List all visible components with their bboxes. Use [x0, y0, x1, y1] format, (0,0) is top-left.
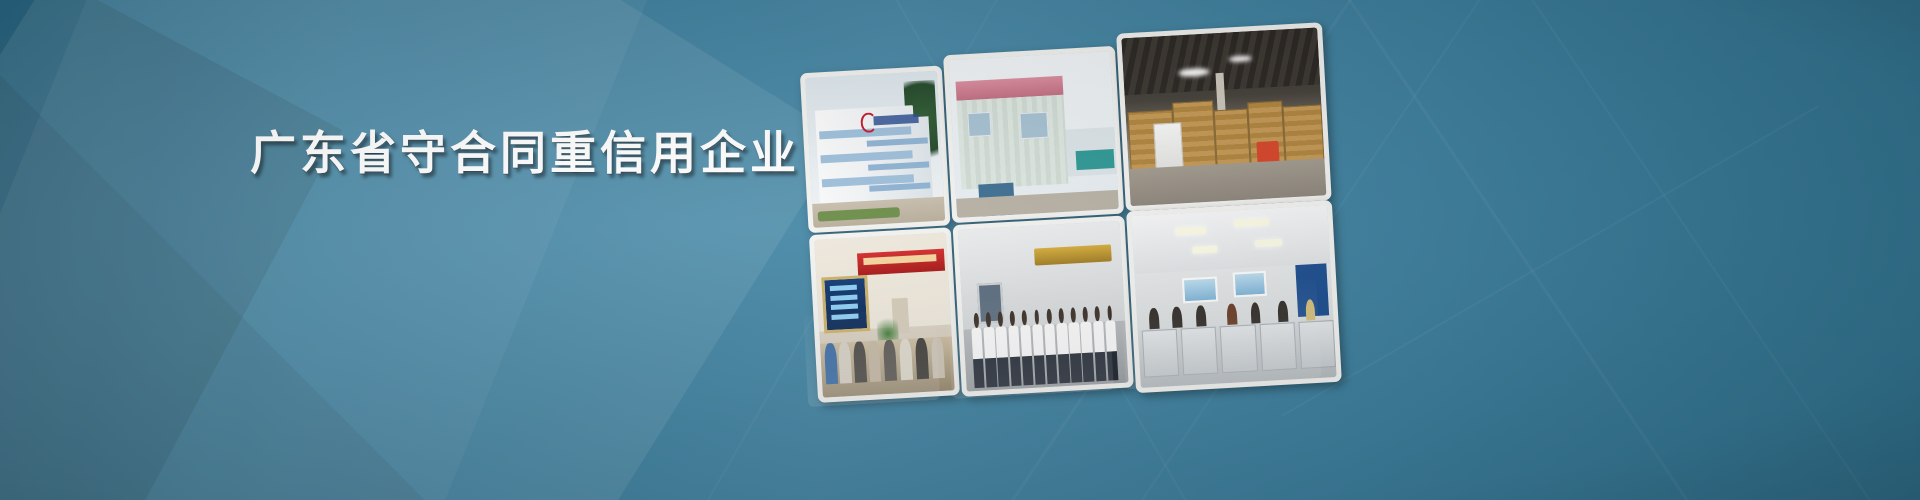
background-facet-light-wedge — [0, 0, 844, 500]
photo-staff-group-photo-lobby — [958, 221, 1129, 392]
collage-tile-staff-group-photo-lobby[interactable] — [953, 216, 1134, 397]
photo-meeting-room-conference — [814, 233, 955, 398]
background-facet-dark-lower — [0, 5, 425, 500]
collage-tile-warehouse-stacked-bags[interactable] — [1116, 22, 1332, 211]
background-streak-4 — [1393, 0, 1920, 500]
collage-tile-open-plan-office[interactable] — [1126, 200, 1342, 393]
background-facet-dark-left — [0, 0, 342, 500]
photo-warehouse-stacked-bags — [1121, 27, 1326, 206]
background-facet-light-narrow — [0, 0, 700, 500]
photo-open-plan-office — [1131, 205, 1336, 388]
company-honor-banner: 广东省守合同重信用企业 — [0, 0, 1920, 500]
banner-headline: 广东省守合同重信用企业 — [250, 126, 800, 180]
photo-factory-building-pink-roof — [948, 51, 1119, 218]
collage-tile-meeting-room-conference[interactable] — [809, 227, 960, 403]
collage-tile-factory-building-pink-roof[interactable] — [943, 46, 1124, 223]
photo-collage — [790, 17, 1369, 408]
collage-tile-factory-exterior-main[interactable] — [800, 65, 951, 233]
photo-factory-exterior-main — [805, 71, 945, 228]
